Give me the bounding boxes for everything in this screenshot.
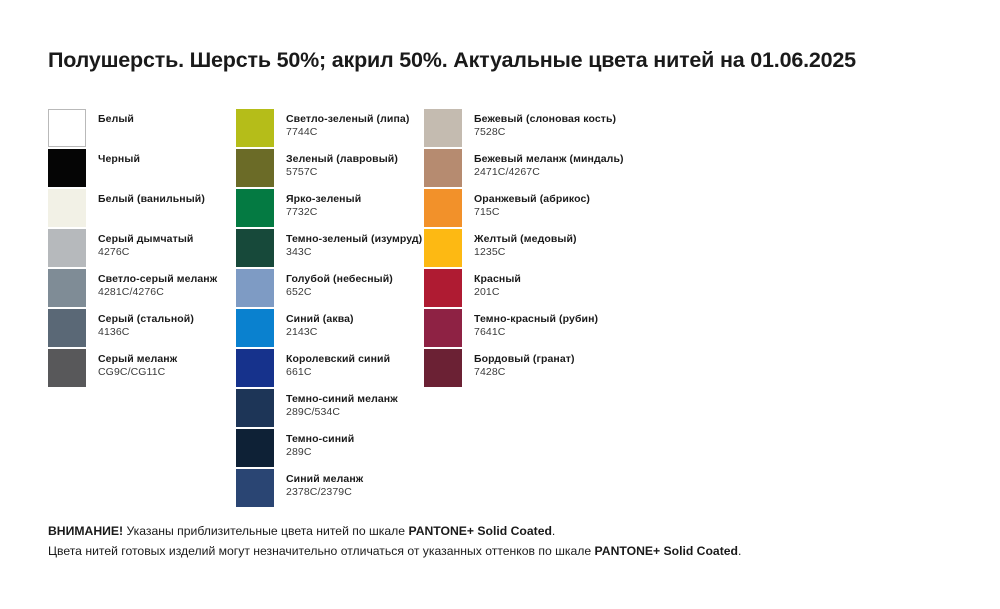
color-swatch-chip — [236, 429, 274, 467]
swatch-row: Темно-синий меланж289C/534C — [236, 389, 424, 429]
swatch-pantone-code: 2143C — [286, 326, 354, 338]
swatch-text: Белый — [98, 109, 134, 125]
swatch-text: Бордовый (гранат)7428C — [474, 349, 575, 379]
swatch-row: Синий меланж2378C/2379C — [236, 469, 424, 509]
swatch-text: Синий меланж2378C/2379C — [286, 469, 363, 499]
color-swatch-chip — [424, 109, 462, 147]
swatch-text: Серый дымчатый4276C — [98, 229, 193, 259]
swatch-text: Черный — [98, 149, 140, 165]
swatch-pantone-code: 7744C — [286, 126, 409, 138]
swatch-pantone-code: 289C — [286, 446, 354, 458]
swatch-pantone-code: 4281C/4276C — [98, 286, 217, 298]
swatch-row: Красный201C — [424, 269, 612, 309]
swatch-text: Темно-красный (рубин)7641C — [474, 309, 598, 339]
color-swatch-chip — [48, 109, 86, 147]
color-swatch-board: БелыйЧерныйБелый (ванильный)Серый дымчат… — [48, 109, 952, 509]
color-swatch-chip — [236, 469, 274, 507]
footer-note: ВНИМАНИЕ! Указаны приблизительные цвета … — [48, 522, 948, 562]
swatch-row: Темно-красный (рубин)7641C — [424, 309, 612, 349]
swatch-row: Бежевый меланж (миндаль)2471C/4267C — [424, 149, 612, 189]
swatch-row: Светло-зеленый (липа)7744C — [236, 109, 424, 149]
swatch-text: Зеленый (лавровый)5757C — [286, 149, 398, 179]
color-swatch-chip — [236, 389, 274, 427]
swatch-text: Светло-серый меланж4281C/4276C — [98, 269, 217, 299]
color-swatch-chip — [48, 309, 86, 347]
swatch-name: Синий меланж — [286, 473, 363, 485]
swatch-pantone-code: 661C — [286, 366, 390, 378]
swatch-row: Ярко-зеленый7732C — [236, 189, 424, 229]
color-swatch-chip — [236, 189, 274, 227]
swatch-row: Серый (стальной)4136C — [48, 309, 236, 349]
swatch-row: Голубой (небесный)652C — [236, 269, 424, 309]
swatch-row: Зеленый (лавровый)5757C — [236, 149, 424, 189]
color-swatch-chip — [48, 269, 86, 307]
color-swatch-chip — [424, 149, 462, 187]
swatch-pantone-code: 5757C — [286, 166, 398, 178]
swatch-pantone-code: 652C — [286, 286, 393, 298]
swatch-text: Королевский синий661C — [286, 349, 390, 379]
swatch-name: Королевский синий — [286, 353, 390, 365]
swatch-text: Белый (ванильный) — [98, 189, 205, 205]
swatch-text: Синий (аква)2143C — [286, 309, 354, 339]
swatch-text: Светло-зеленый (липа)7744C — [286, 109, 409, 139]
swatch-pantone-code: 201C — [474, 286, 521, 298]
footer-line-1-text: Указаны приблизительные цвета нитей по ш… — [123, 524, 408, 538]
swatch-pantone-code: 7428C — [474, 366, 575, 378]
swatch-name: Бежевый (слоновая кость) — [474, 113, 616, 125]
swatch-row: Темно-зеленый (изумруд)343C — [236, 229, 424, 269]
color-swatch-chip — [48, 149, 86, 187]
color-swatch-chip — [236, 309, 274, 347]
color-swatch-chip — [424, 269, 462, 307]
swatch-text: Бежевый меланж (миндаль)2471C/4267C — [474, 149, 624, 179]
swatch-text: Темно-синий289C — [286, 429, 354, 459]
swatch-name: Голубой (небесный) — [286, 273, 393, 285]
color-swatch-chip — [424, 229, 462, 267]
swatch-row: Бежевый (слоновая кость)7528C — [424, 109, 612, 149]
swatch-text: Серый меланжCG9C/CG11C — [98, 349, 177, 379]
swatch-row: Оранжевый (абрикос)715C — [424, 189, 612, 229]
swatch-name: Красный — [474, 273, 521, 285]
color-swatch-chip — [236, 349, 274, 387]
color-swatch-chip — [48, 349, 86, 387]
swatch-text: Темно-зеленый (изумруд)343C — [286, 229, 422, 259]
swatch-pantone-code: 289C/534C — [286, 406, 398, 418]
swatch-pantone-code: 7528C — [474, 126, 616, 138]
swatch-name: Темно-синий — [286, 433, 354, 445]
swatch-row: Желтый (медовый)1235C — [424, 229, 612, 269]
color-swatch-chip — [48, 229, 86, 267]
swatch-row: Синий (аква)2143C — [236, 309, 424, 349]
swatch-pantone-code: CG9C/CG11C — [98, 366, 177, 378]
color-swatch-chip — [236, 269, 274, 307]
swatch-name: Желтый (медовый) — [474, 233, 577, 245]
swatch-column-neutrals: БелыйЧерныйБелый (ванильный)Серый дымчат… — [48, 109, 236, 509]
swatch-pantone-code: 4276C — [98, 246, 193, 258]
swatch-text: Серый (стальной)4136C — [98, 309, 194, 339]
swatch-text: Желтый (медовый)1235C — [474, 229, 577, 259]
swatch-text: Ярко-зеленый7732C — [286, 189, 361, 219]
swatch-name: Черный — [98, 153, 140, 165]
swatch-row: Бордовый (гранат)7428C — [424, 349, 612, 389]
swatch-name: Белый — [98, 113, 134, 125]
swatch-column-greens-blues: Светло-зеленый (липа)7744CЗеленый (лавро… — [236, 109, 424, 509]
swatch-name: Бордовый (гранат) — [474, 353, 575, 365]
swatch-text: Бежевый (слоновая кость)7528C — [474, 109, 616, 139]
swatch-pantone-code: 1235C — [474, 246, 577, 258]
attention-label: ВНИМАНИЕ! — [48, 524, 123, 538]
swatch-row: Белый (ванильный) — [48, 189, 236, 229]
color-swatch-chip — [48, 189, 86, 227]
swatch-pantone-code: 7732C — [286, 206, 361, 218]
swatch-name: Светло-серый меланж — [98, 273, 217, 285]
swatch-text: Темно-синий меланж289C/534C — [286, 389, 398, 419]
swatch-pantone-code: 4136C — [98, 326, 194, 338]
swatch-name: Зеленый (лавровый) — [286, 153, 398, 165]
swatch-pantone-code: 343C — [286, 246, 422, 258]
swatch-name: Ярко-зеленый — [286, 193, 361, 205]
swatch-row: Темно-синий289C — [236, 429, 424, 469]
swatch-row: Серый дымчатый4276C — [48, 229, 236, 269]
swatch-name: Бежевый меланж (миндаль) — [474, 153, 624, 165]
swatch-name: Серый меланж — [98, 353, 177, 365]
color-swatch-chip — [236, 109, 274, 147]
swatch-row: Королевский синий661C — [236, 349, 424, 389]
swatch-name: Темно-красный (рубин) — [474, 313, 598, 325]
color-swatch-chip — [424, 349, 462, 387]
swatch-pantone-code: 2471C/4267C — [474, 166, 624, 178]
swatch-name: Синий (аква) — [286, 313, 354, 325]
swatch-row: Светло-серый меланж4281C/4276C — [48, 269, 236, 309]
swatch-text: Голубой (небесный)652C — [286, 269, 393, 299]
swatch-name: Белый (ванильный) — [98, 193, 205, 205]
pantone-brand-2: PANTONE+ Solid Coated — [595, 544, 738, 558]
swatch-column-warm-reds: Бежевый (слоновая кость)7528CБежевый мел… — [424, 109, 612, 509]
footer-line-2-end: . — [738, 544, 741, 558]
color-swatch-chip — [424, 189, 462, 227]
swatch-row: Серый меланжCG9C/CG11C — [48, 349, 236, 389]
swatch-pantone-code: 2378C/2379C — [286, 486, 363, 498]
swatch-row: Белый — [48, 109, 236, 149]
footer-line-1: ВНИМАНИЕ! Указаны приблизительные цвета … — [48, 522, 948, 542]
swatch-name: Серый (стальной) — [98, 313, 194, 325]
swatch-pantone-code: 715C — [474, 206, 590, 218]
swatch-name: Темно-зеленый (изумруд) — [286, 233, 422, 245]
pantone-brand-1: PANTONE+ Solid Coated — [408, 524, 551, 538]
color-swatch-chip — [236, 229, 274, 267]
color-swatch-chip — [236, 149, 274, 187]
page-title: Полушерсть. Шерсть 50%; акрил 50%. Актуа… — [48, 48, 856, 73]
swatch-text: Оранжевый (абрикос)715C — [474, 189, 590, 219]
swatch-name: Светло-зеленый (липа) — [286, 113, 409, 125]
swatch-name: Оранжевый (абрикос) — [474, 193, 590, 205]
footer-line-2-text: Цвета нитей готовых изделий могут незнач… — [48, 544, 595, 558]
swatch-text: Красный201C — [474, 269, 521, 299]
color-swatch-chip — [424, 309, 462, 347]
swatch-row: Черный — [48, 149, 236, 189]
footer-line-2: Цвета нитей готовых изделий могут незнач… — [48, 542, 948, 562]
swatch-pantone-code: 7641C — [474, 326, 598, 338]
footer-line-1-end: . — [552, 524, 555, 538]
swatch-name: Серый дымчатый — [98, 233, 193, 245]
swatch-name: Темно-синий меланж — [286, 393, 398, 405]
